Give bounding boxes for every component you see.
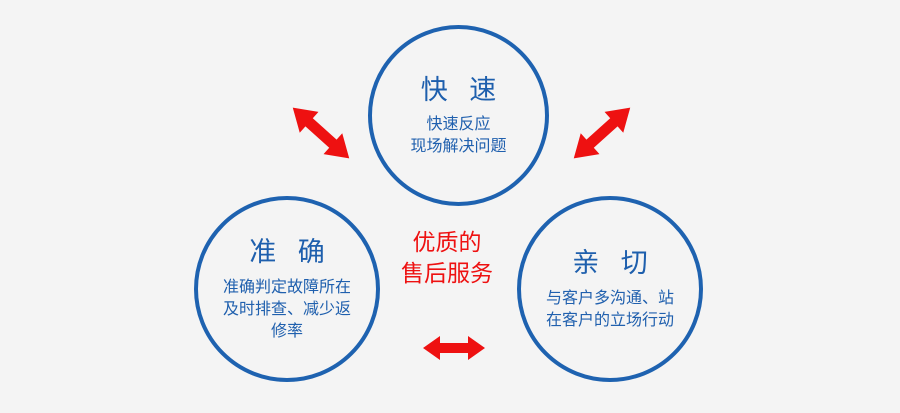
circle-node-accurate: 准 确 准确判定故障所在 及时排查、减少返 修率 xyxy=(194,196,380,382)
service-quality-diagram: 快 速 快速反应 现场解决问题 准 确 准确判定故障所在 及时排查、减少返 修率… xyxy=(0,0,900,413)
circle-body-friendly: 与客户多沟通、站 在客户的立场行动 xyxy=(546,288,674,332)
circle-title-fast: 快 速 xyxy=(414,74,504,106)
center-caption: 优质的 售后服务 xyxy=(383,227,511,289)
double-arrow-diagonal-up-right-icon xyxy=(288,93,354,173)
circle-node-fast: 快 速 快速反应 现场解决问题 xyxy=(368,25,549,206)
circle-node-friendly: 亲 切 与客户多沟通、站 在客户的立场行动 xyxy=(517,196,703,382)
circle-title-accurate: 准 确 xyxy=(242,236,332,268)
double-arrow-horizontal-icon xyxy=(420,331,488,365)
circle-title-friendly: 亲 切 xyxy=(565,247,655,279)
circle-body-fast: 快速反应 现场解决问题 xyxy=(410,114,506,158)
double-arrow-diagonal-down-right-icon xyxy=(569,93,635,173)
circle-body-accurate: 准确判定故障所在 及时排查、减少返 修率 xyxy=(223,277,351,343)
